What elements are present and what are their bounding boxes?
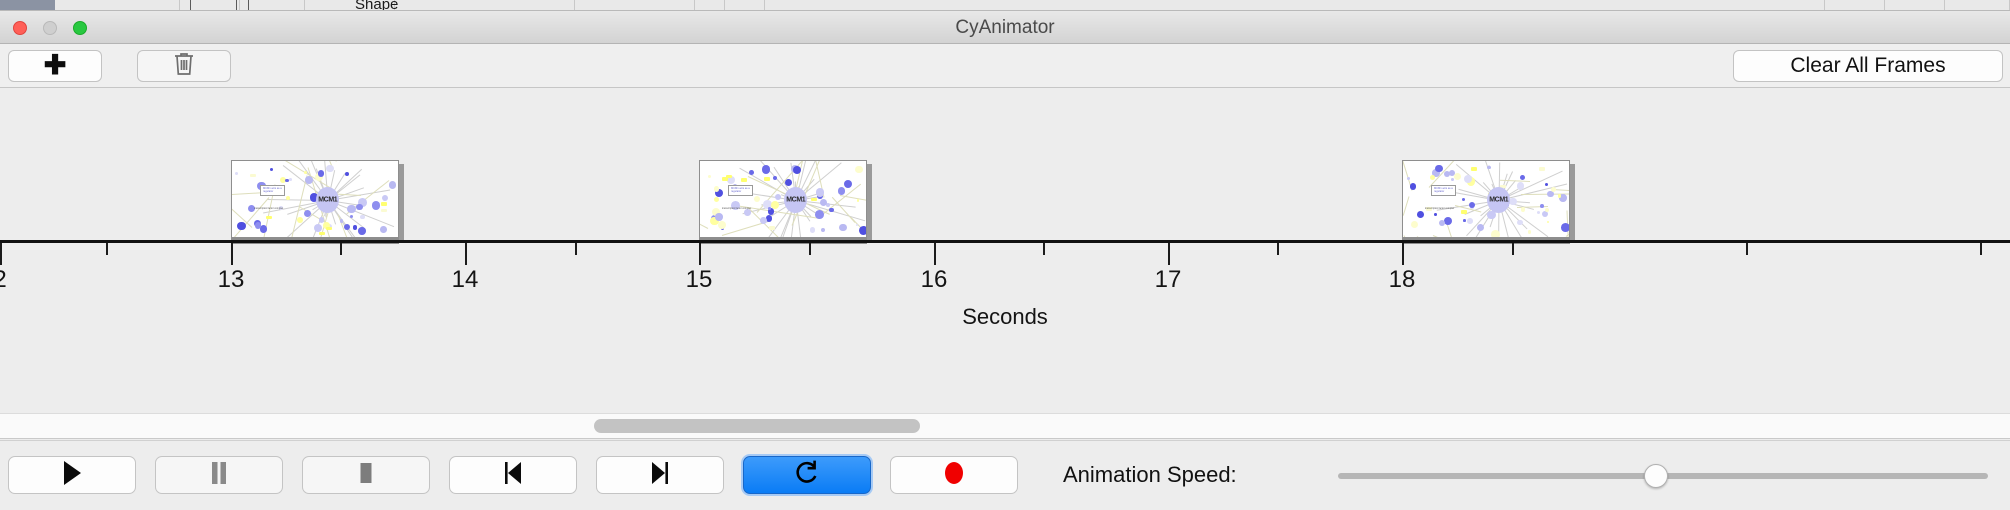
- ruler-tick-major: [1168, 243, 1170, 265]
- add-frame-button[interactable]: ✚: [8, 50, 102, 82]
- next-frame-button[interactable]: [596, 456, 724, 494]
- previous-frame-button[interactable]: [449, 456, 577, 494]
- play-icon: [61, 460, 83, 491]
- background-window-label: Shape: [355, 0, 398, 11]
- window-titlebar: CyAnimator: [0, 11, 2010, 44]
- ruler-tick-minor: [1277, 243, 1279, 255]
- ruler-tick-label: 18: [1389, 266, 1416, 294]
- ruler-tick-label: 15: [686, 266, 713, 294]
- pause-button[interactable]: [155, 456, 283, 494]
- page-title: CyAnimator: [0, 11, 2010, 44]
- ruler-tick-minor: [575, 243, 577, 255]
- loop-icon: [794, 459, 820, 492]
- loop-button[interactable]: [743, 456, 871, 494]
- timeline-ruler: 2131415161718 Seconds: [0, 88, 2010, 413]
- ruler-tick-label: 13: [218, 266, 245, 294]
- record-button[interactable]: [890, 456, 1018, 494]
- skip-forward-icon: [648, 460, 672, 491]
- toolbar: ✚ Clear All Frames: [0, 44, 2010, 88]
- plus-icon: ✚: [44, 52, 67, 79]
- background-window-strip: Shape: [0, 0, 2010, 11]
- skip-back-icon: [501, 460, 525, 491]
- ruler-tick-minor: [809, 243, 811, 255]
- ruler-tick-label: 2: [0, 266, 7, 294]
- ruler-tick-minor: [1980, 243, 1982, 255]
- delete-frame-button[interactable]: [137, 50, 231, 82]
- ruler-baseline: [0, 240, 2010, 243]
- ruler-tick-label: 17: [1155, 266, 1182, 294]
- pause-icon: [208, 460, 230, 491]
- ruler-tick-minor: [1512, 243, 1514, 255]
- ruler-tick-major: [0, 243, 2, 265]
- timeline-panel[interactable]: MCM1MCM1 acts as aregulatortranscription…: [0, 88, 2010, 413]
- ruler-tick-minor: [1746, 243, 1748, 255]
- record-icon: [941, 459, 967, 492]
- horizontal-scrollbar[interactable]: [0, 413, 2010, 439]
- play-button[interactable]: [8, 456, 136, 494]
- ruler-tick-major: [231, 243, 233, 265]
- ruler-tick-minor: [340, 243, 342, 255]
- clear-all-frames-button[interactable]: Clear All Frames: [1733, 50, 2003, 82]
- ruler-tick-minor: [1043, 243, 1045, 255]
- animation-speed-label: Animation Speed:: [1063, 456, 1237, 494]
- ruler-axis-label: Seconds: [0, 304, 2010, 330]
- ruler-tick-major: [1402, 243, 1404, 265]
- trash-icon: [172, 51, 196, 82]
- playback-control-bar: Animation Speed:: [0, 440, 2010, 510]
- stop-icon: [355, 460, 377, 491]
- scrollbar-thumb[interactable]: [594, 419, 920, 433]
- ruler-tick-minor: [106, 243, 108, 255]
- ruler-tick-major: [699, 243, 701, 265]
- stop-button[interactable]: [302, 456, 430, 494]
- ruler-tick-label: 14: [452, 266, 479, 294]
- ruler-tick-label: 16: [921, 266, 948, 294]
- animation-speed-knob[interactable]: [1644, 464, 1668, 488]
- ruler-tick-major: [465, 243, 467, 265]
- ruler-tick-major: [934, 243, 936, 265]
